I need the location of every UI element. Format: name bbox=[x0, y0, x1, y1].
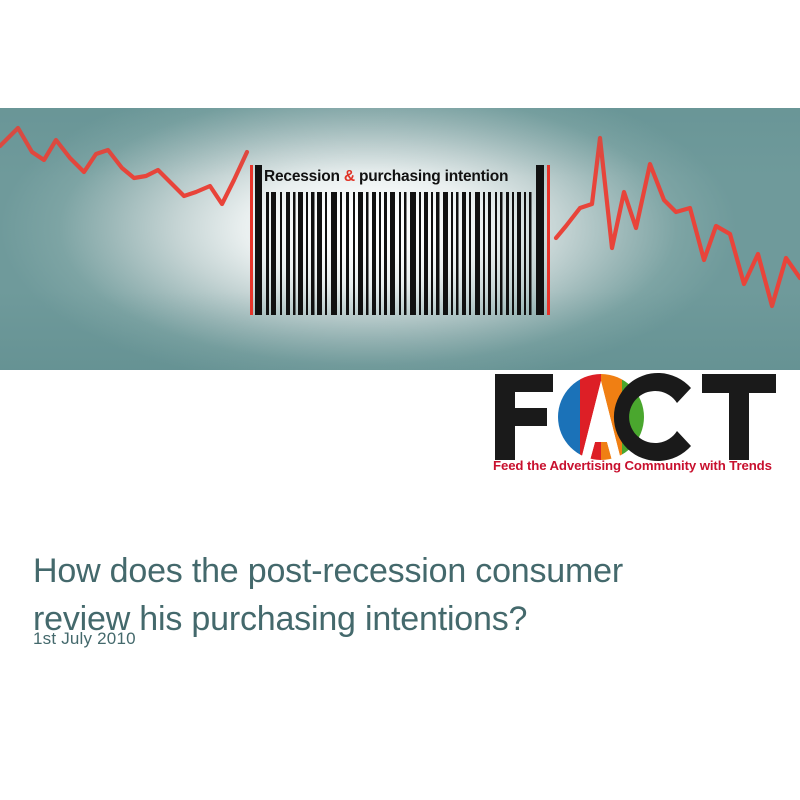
barcode-graphic: Recession & purchasing intention bbox=[248, 165, 556, 315]
hero-banner: Recession & purchasing intention bbox=[0, 108, 800, 370]
logo-letter-t bbox=[702, 374, 776, 460]
barcode-caption: Recession & purchasing intention bbox=[264, 165, 542, 189]
trendline-right-polyline bbox=[556, 138, 800, 306]
logo-letter-c bbox=[606, 373, 694, 461]
page-date: 1st July 2010 bbox=[33, 629, 136, 649]
barcode-caption-prefix: Recession bbox=[264, 168, 344, 185]
page-title-line-2: review his purchasing intentions? bbox=[33, 595, 763, 643]
page-title-line-1: How does the post-recession consumer bbox=[33, 547, 763, 595]
trendline-left-polyline bbox=[0, 128, 247, 204]
barcode-caption-ampersand: & bbox=[344, 168, 355, 185]
barcode-caption-suffix: purchasing intention bbox=[355, 168, 508, 185]
page-title: How does the post-recession consumer rev… bbox=[33, 547, 763, 643]
fact-logo: Feed the Advertising Community with Tren… bbox=[489, 368, 789, 480]
fact-logo-tagline: Feed the Advertising Community with Tren… bbox=[493, 458, 789, 473]
logo-letter-f bbox=[495, 374, 553, 460]
